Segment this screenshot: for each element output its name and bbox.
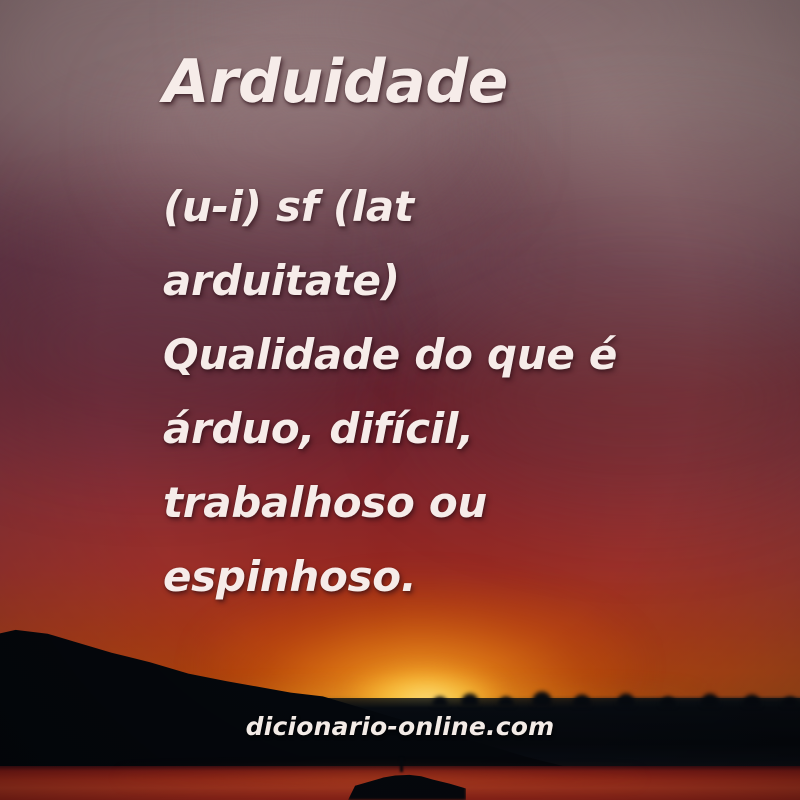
word-card: Arduidade (u-i) sf (lat arduitate) Quali…	[0, 0, 800, 800]
site-credit: dicionario-online.com	[0, 712, 800, 741]
page-title: Arduidade	[163, 52, 508, 112]
definition-line: Qualidade do que é	[163, 318, 643, 392]
definition-line: árduo, difícil,	[163, 392, 643, 466]
definition-line: espinhoso.	[163, 540, 643, 614]
definition-line: arduitate)	[163, 244, 643, 318]
text-layer: Arduidade (u-i) sf (lat arduitate) Quali…	[0, 0, 800, 800]
definition-block: (u-i) sf (lat arduitate) Qualidade do qu…	[163, 170, 643, 614]
definition-line: (u-i) sf (lat	[163, 170, 643, 244]
definition-line: trabalhoso ou	[163, 466, 643, 540]
